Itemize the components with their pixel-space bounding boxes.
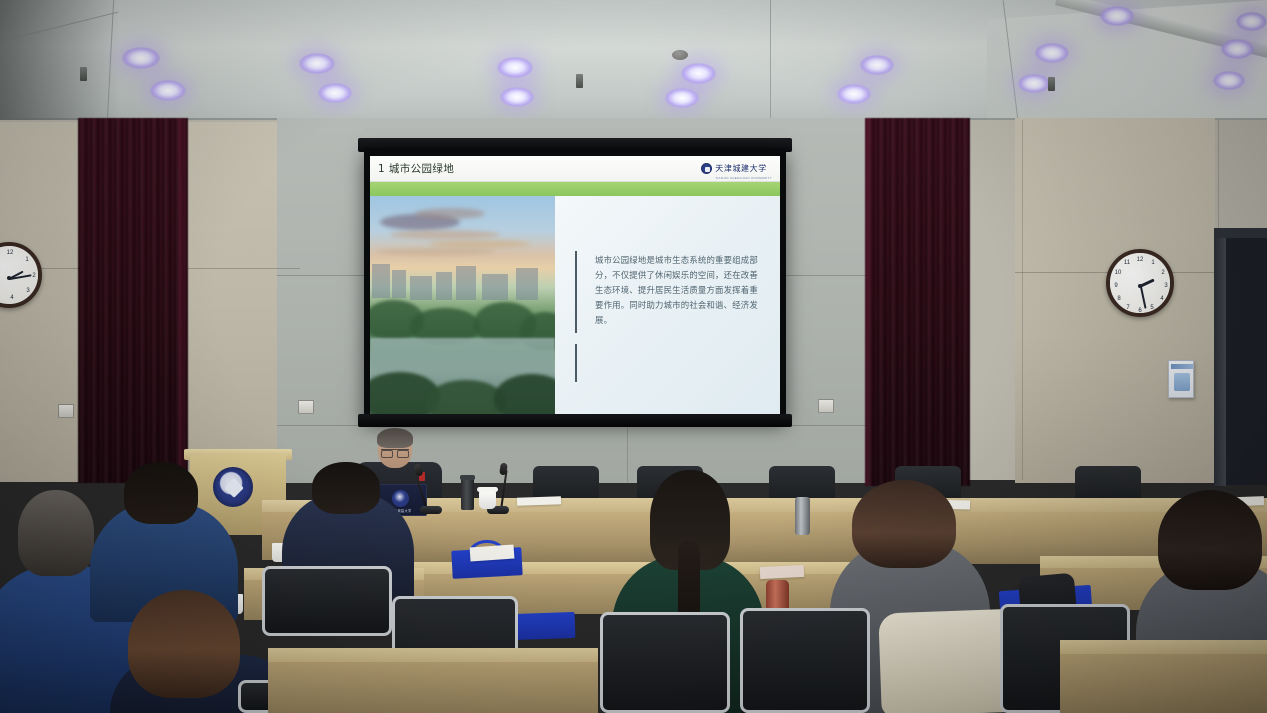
slide-photo-park-sunset xyxy=(370,196,555,414)
slide-accent-bar xyxy=(575,251,577,333)
audience-chair[interactable] xyxy=(600,612,730,713)
ceiling-hook xyxy=(80,67,87,81)
presentation-slide: 1 城市公园绿地 天津城建大学 TIANJIN CHENGJIAN UNIVER… xyxy=(370,156,780,414)
stage-curtain-left xyxy=(78,118,188,483)
ceiling-downlight xyxy=(837,84,871,104)
audience-chair[interactable] xyxy=(262,566,392,636)
university-logo-mark xyxy=(701,163,712,174)
audience-desk-front xyxy=(1060,654,1267,713)
speaker-hair xyxy=(377,428,413,448)
ceiling-downlight xyxy=(497,57,533,78)
audience-person-hair xyxy=(852,480,956,568)
sign-header xyxy=(1171,364,1193,369)
university-logo-subtext: TIANJIN CHENGJIAN UNIVERSITY xyxy=(715,176,772,180)
tea-cup[interactable] xyxy=(479,490,496,509)
wall-switch[interactable] xyxy=(818,399,834,413)
wall-seam xyxy=(1218,120,1219,230)
ceiling-downlight xyxy=(318,83,352,103)
ceiling-shadow xyxy=(0,0,120,132)
ceiling-downlight xyxy=(665,88,699,108)
wall-clock-right: 12 1 2 3 4 5 6 7 8 9 10 11 xyxy=(1106,249,1174,317)
ceiling-downlight xyxy=(1213,71,1245,90)
ceiling-downlight xyxy=(1221,39,1254,59)
ceiling-downlight xyxy=(299,53,335,74)
ceiling-downlight xyxy=(1018,74,1050,93)
ceiling-downlight xyxy=(1100,6,1134,26)
stage-curtain-right xyxy=(865,118,970,486)
screen-frame-bottom xyxy=(358,414,792,427)
lecture-hall-photo: 12 1 2 3 4 5 12 1 2 3 4 5 6 7 8 9 10 11 xyxy=(0,0,1267,713)
fire-equipment-sign xyxy=(1168,360,1194,398)
sign-pictogram xyxy=(1174,373,1190,391)
microphone-base xyxy=(420,506,442,514)
water-bottle[interactable] xyxy=(795,497,810,535)
slide-accent-bar-2 xyxy=(575,344,577,382)
audience-person-hair xyxy=(1158,490,1262,590)
ceiling-seam xyxy=(770,0,771,122)
ceiling-downlight xyxy=(1035,43,1069,63)
paper-document[interactable] xyxy=(517,496,561,506)
smoke-detector xyxy=(672,50,688,60)
ceiling-downlight xyxy=(122,47,160,69)
ceiling-hook xyxy=(1048,77,1055,91)
ceiling-downlight xyxy=(500,87,534,107)
audience-person-hair xyxy=(124,462,198,524)
audience-person-hair xyxy=(128,590,240,698)
tea-cup-lid xyxy=(477,487,498,492)
wall-seam xyxy=(627,420,628,482)
ceiling-hook xyxy=(576,74,583,88)
thermos-cap xyxy=(460,475,475,480)
slide-text-pane: 城市公园绿地是城市生态系统的重要组成部分，不仅提供了休闲娱乐的空间，还在改善生态… xyxy=(555,196,780,414)
door-frame-header xyxy=(1214,228,1267,238)
university-logo: 天津城建大学 TIANJIN CHENGJIAN UNIVERSITY xyxy=(701,158,772,180)
university-emblem-podium xyxy=(213,467,253,507)
ceiling-downlight xyxy=(1236,12,1267,31)
university-logo-text: 天津城建大学 xyxy=(715,164,767,173)
laptop-logo xyxy=(392,490,409,507)
audience-person-hair xyxy=(312,462,380,514)
slide-title-bar: 1 城市公园绿地 天津城建大学 TIANJIN CHENGJIAN UNIVER… xyxy=(370,156,780,182)
ceiling-downlight xyxy=(681,63,716,84)
thermos-flask[interactable] xyxy=(461,478,474,510)
audience-desk-front xyxy=(268,662,598,713)
paper-document[interactable] xyxy=(760,565,805,579)
audience-chair[interactable] xyxy=(740,608,870,713)
ceiling-downlight xyxy=(860,55,894,75)
wall-switch[interactable] xyxy=(58,404,74,418)
audience-person-hair xyxy=(18,490,94,576)
door-frame xyxy=(1214,228,1226,486)
slide-body-text: 城市公园绿地是城市生态系统的重要组成部分，不仅提供了休闲娱乐的空间，还在改善生态… xyxy=(595,253,765,328)
speaker-glasses xyxy=(381,449,409,455)
wall-seam xyxy=(1022,120,1023,480)
wall-switch[interactable] xyxy=(298,400,314,414)
ceiling-downlight xyxy=(150,80,186,101)
slide-title: 1 城市公园绿地 xyxy=(378,161,454,176)
